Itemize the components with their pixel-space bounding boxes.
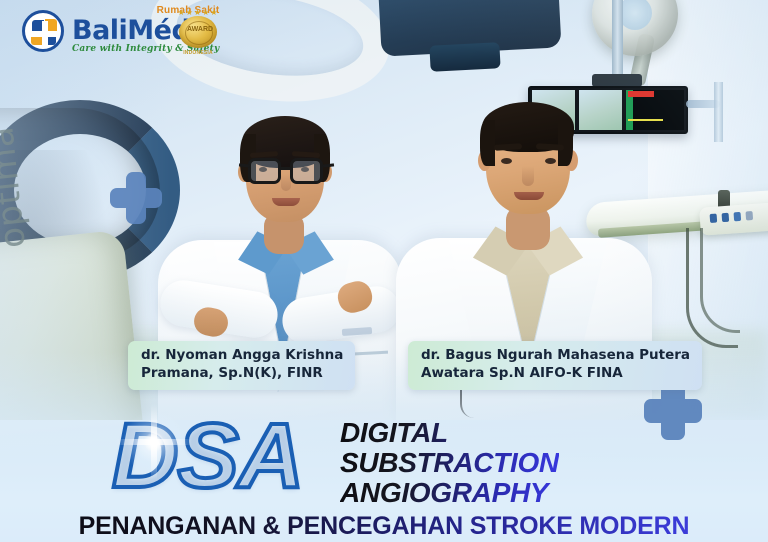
poster-root: optimaEdition <box>0 0 768 542</box>
logo-cross-horizontal <box>31 31 59 37</box>
doctor2-mouth <box>514 192 544 200</box>
title-block: DSA DIGITAL SUBSTRACTION ANGIOGRAPHY PEN… <box>0 404 768 542</box>
control-key-2 <box>722 213 730 222</box>
eyeglasses-bridge <box>281 167 293 170</box>
doctor2-hair-side-left <box>480 120 495 166</box>
c-arm-body <box>0 229 147 420</box>
poster-tagline: PENANGANAN & PENCEGAHAN STROKE MODERN <box>0 512 768 541</box>
doctor-name-badge-1: dr. Nyoman Angga Krishna Pramana, Sp.N(K… <box>128 341 355 390</box>
doctor2-eye-left <box>501 158 512 164</box>
plus-cross-icon-left <box>110 172 162 224</box>
eyeglasses-temple-right <box>323 163 334 167</box>
monitor-mount-pole <box>612 0 623 80</box>
award-caption: INDONESIA <box>172 50 224 56</box>
award-center-label: AWARD <box>187 23 209 36</box>
eyeglasses-icon <box>248 158 281 184</box>
monitor-pole-right <box>714 82 723 142</box>
hospital-cross-logo-icon <box>22 10 64 52</box>
machine-name-text: optima <box>0 124 34 250</box>
angio-detector-arm <box>429 42 500 72</box>
control-key-4 <box>745 211 753 220</box>
machine-edition-text: Edition <box>0 53 5 124</box>
plus-bar-vertical <box>126 172 147 224</box>
dsa-expansion-title: DIGITAL SUBSTRACTION ANGIOGRAPHY <box>340 418 559 508</box>
doctor1-mouth <box>272 198 300 206</box>
control-key-1 <box>710 214 718 223</box>
doctor2-hair-side-right <box>558 120 573 166</box>
doctor2-eye-right <box>545 158 556 164</box>
doctor2-nose <box>522 166 534 186</box>
dsa-acronym-title: DSA <box>112 410 303 502</box>
doctor-name-badge-2: dr. Bagus Ngurah Mahasena Putera Awatara… <box>408 341 702 390</box>
equipment-cable-2 <box>700 228 740 333</box>
eyeglasses-lens-right <box>290 158 323 184</box>
control-key-3 <box>734 212 742 221</box>
award-medal-icon: ★★★★★ AWARD INDONESIA <box>172 8 224 58</box>
